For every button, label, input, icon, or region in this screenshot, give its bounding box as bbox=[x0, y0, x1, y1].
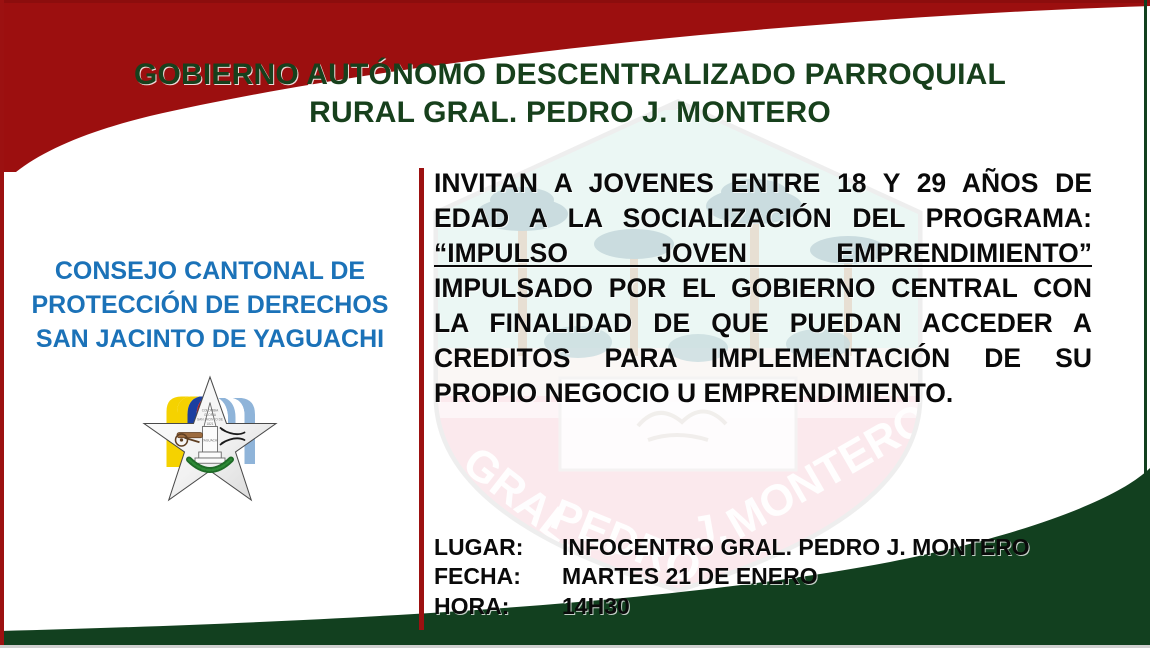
frame-right-line bbox=[1144, 0, 1147, 648]
council-line-2: PROTECCIÓN DE DERECHOS bbox=[4, 289, 416, 323]
event-details: LUGAR: INFOCENTRO GRAL. PEDRO J. MONTERO… bbox=[434, 533, 1104, 621]
detail-row-fecha: FECHA: MARTES 21 DE ENERO bbox=[434, 562, 1104, 591]
poster-canvas: GRAL. PEDRO J. MONTERO GOBIERNO AUTÓNOMO… bbox=[0, 0, 1150, 648]
body-column: INVITAN A JOVENES ENTRE 18 Y 29 AÑOS DE … bbox=[434, 166, 1092, 411]
header-line-2: RURAL GRAL. PEDRO J. MONTERO bbox=[40, 94, 1100, 132]
detail-value-lugar: INFOCENTRO GRAL. PEDRO J. MONTERO bbox=[562, 533, 1104, 562]
council-line-3: SAN JACINTO DE YAGUACHI bbox=[4, 323, 416, 357]
frame-left-line bbox=[0, 0, 4, 648]
vertical-divider bbox=[419, 168, 424, 630]
council-line-1: CONSEJO CANTONAL DE bbox=[4, 255, 416, 289]
council-name: CONSEJO CANTONAL DE PROTECCIÓN DE DERECH… bbox=[4, 255, 416, 356]
detail-row-lugar: LUGAR: INFOCENTRO GRAL. PEDRO J. MONTERO bbox=[434, 533, 1104, 562]
svg-text:YAGUACHI: YAGUACHI bbox=[202, 439, 218, 443]
san-jacinto-de-yaguachi-coat-of-arms-icon: COLOMBIA GLORIA SAN JACINTO DE 1821 YAGU… bbox=[135, 368, 285, 518]
paragraph-segment-1: INVITAN A JOVENES ENTRE 18 Y 29 AÑOS DE … bbox=[434, 168, 1092, 233]
left-column: CONSEJO CANTONAL DE PROTECCIÓN DE DERECH… bbox=[4, 255, 416, 518]
detail-row-hora: HORA: 14H30 bbox=[434, 592, 1104, 621]
poster-header: GOBIERNO AUTÓNOMO DESCENTRALIZADO PARROQ… bbox=[40, 56, 1100, 133]
detail-value-fecha: MARTES 21 DE ENERO bbox=[562, 562, 1104, 591]
paragraph-segment-3: IMPULSADO POR EL GOBIERNO CENTRAL CON LA… bbox=[434, 273, 1092, 408]
svg-text:GLORIA: GLORIA bbox=[204, 413, 217, 417]
svg-text:1821: 1821 bbox=[207, 422, 214, 426]
detail-value-hora: 14H30 bbox=[562, 592, 1104, 621]
frame-top-line bbox=[0, 0, 1150, 3]
detail-label-fecha: FECHA: bbox=[434, 562, 562, 591]
svg-text:COLOMBIA: COLOMBIA bbox=[202, 409, 219, 413]
svg-text:SAN JACINTO DE: SAN JACINTO DE bbox=[197, 418, 223, 422]
detail-label-lugar: LUGAR: bbox=[434, 533, 562, 562]
invitation-paragraph: INVITAN A JOVENES ENTRE 18 Y 29 AÑOS DE … bbox=[434, 166, 1092, 411]
program-name-underlined: “IMPULSO JOVEN EMPRENDIMIENTO” bbox=[434, 238, 1092, 268]
detail-label-hora: HORA: bbox=[434, 592, 562, 621]
crest-container: COLOMBIA GLORIA SAN JACINTO DE 1821 YAGU… bbox=[4, 368, 416, 518]
header-line-1: GOBIERNO AUTÓNOMO DESCENTRALIZADO PARROQ… bbox=[40, 56, 1100, 94]
